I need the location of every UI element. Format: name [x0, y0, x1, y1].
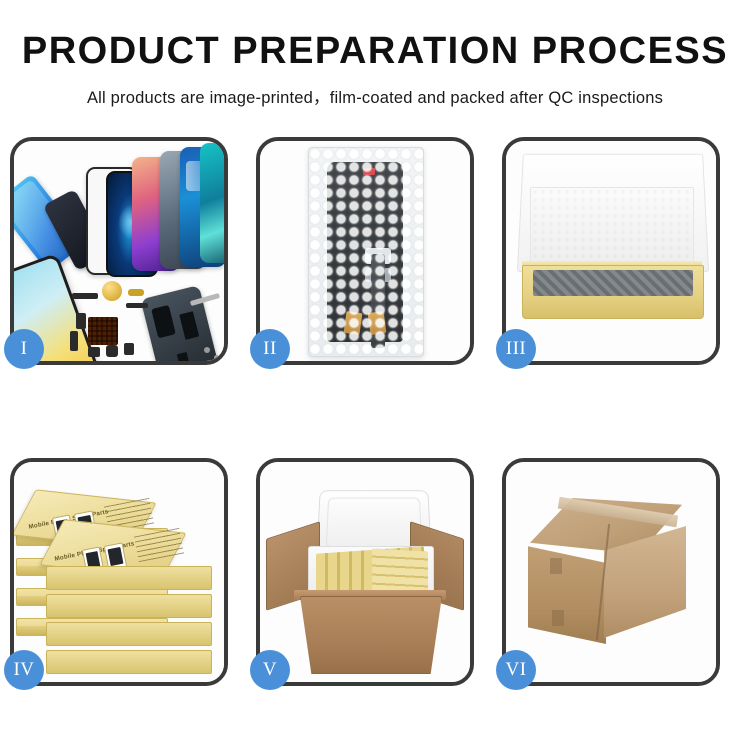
step-badge-5: V — [250, 650, 290, 690]
page-title: PRODUCT PREPARATION PROCESS — [0, 32, 750, 72]
step-badge-1: I — [4, 329, 44, 369]
process-step-panel-3: III — [502, 137, 720, 365]
step-image-6 — [506, 462, 716, 682]
process-step-panel-5: V — [256, 458, 474, 686]
carton-body — [300, 596, 442, 674]
spare-part-button-flex — [126, 303, 148, 308]
carton-handle-tab-upper — [550, 558, 562, 574]
spare-part-small-e — [124, 343, 134, 355]
spare-part-small-a — [76, 313, 86, 329]
tray-contents-foam — [533, 270, 693, 296]
step-image-1 — [14, 141, 224, 361]
step-badge-3: III — [496, 329, 536, 369]
stacked-box-r2 — [46, 594, 212, 618]
process-step-panel-4: Mobile Phone Spare Parts Mobile Phone Sp… — [10, 458, 228, 686]
step-image-5 — [260, 462, 470, 682]
bubble-wrap-bag — [308, 147, 424, 357]
spare-part-screw-a — [204, 347, 210, 353]
spare-part-gold-flex — [128, 289, 144, 296]
spare-part-chip-array — [88, 317, 118, 345]
step-badge-6: VI — [496, 650, 536, 690]
white-foam-sheet — [530, 187, 694, 271]
carton-handle-tab-lower — [552, 610, 564, 626]
spare-part-screw-b — [214, 355, 219, 360]
phone-teal-wallpaper — [200, 143, 224, 263]
process-steps-grid: I II — [10, 137, 740, 686]
process-step-panel-2: II — [256, 137, 474, 365]
step-image-4: Mobile Phone Spare Parts Mobile Phone Sp… — [14, 462, 224, 682]
stacked-box-r1 — [46, 566, 212, 590]
spare-part-small-d — [106, 345, 118, 357]
spare-part-strip — [72, 293, 98, 299]
yellow-tray-box — [522, 265, 704, 319]
bubble-texture-overlay — [309, 148, 423, 356]
stacked-box-r3 — [46, 622, 212, 646]
step-image-3 — [506, 141, 716, 361]
spare-part-speaker — [102, 281, 122, 301]
spare-part-small-b — [70, 331, 78, 351]
box-stack: Mobile Phone Spare Parts Mobile Phone Sp… — [14, 462, 224, 682]
page-header: PRODUCT PREPARATION PROCESS All products… — [0, 0, 750, 108]
page-subtitle: All products are image-printed，film-coat… — [0, 84, 750, 108]
product-preparation-page: PRODUCT PREPARATION PROCESS All products… — [0, 0, 750, 750]
process-step-panel-6: VI — [502, 458, 720, 686]
step-badge-2: II — [250, 329, 290, 369]
spare-part-small-c — [88, 347, 100, 357]
step-badge-4: IV — [4, 650, 44, 690]
carton-left-face — [528, 540, 606, 644]
step-image-2 — [260, 141, 470, 361]
process-step-panel-1: I — [10, 137, 228, 365]
stacked-box-r4 — [46, 650, 212, 674]
